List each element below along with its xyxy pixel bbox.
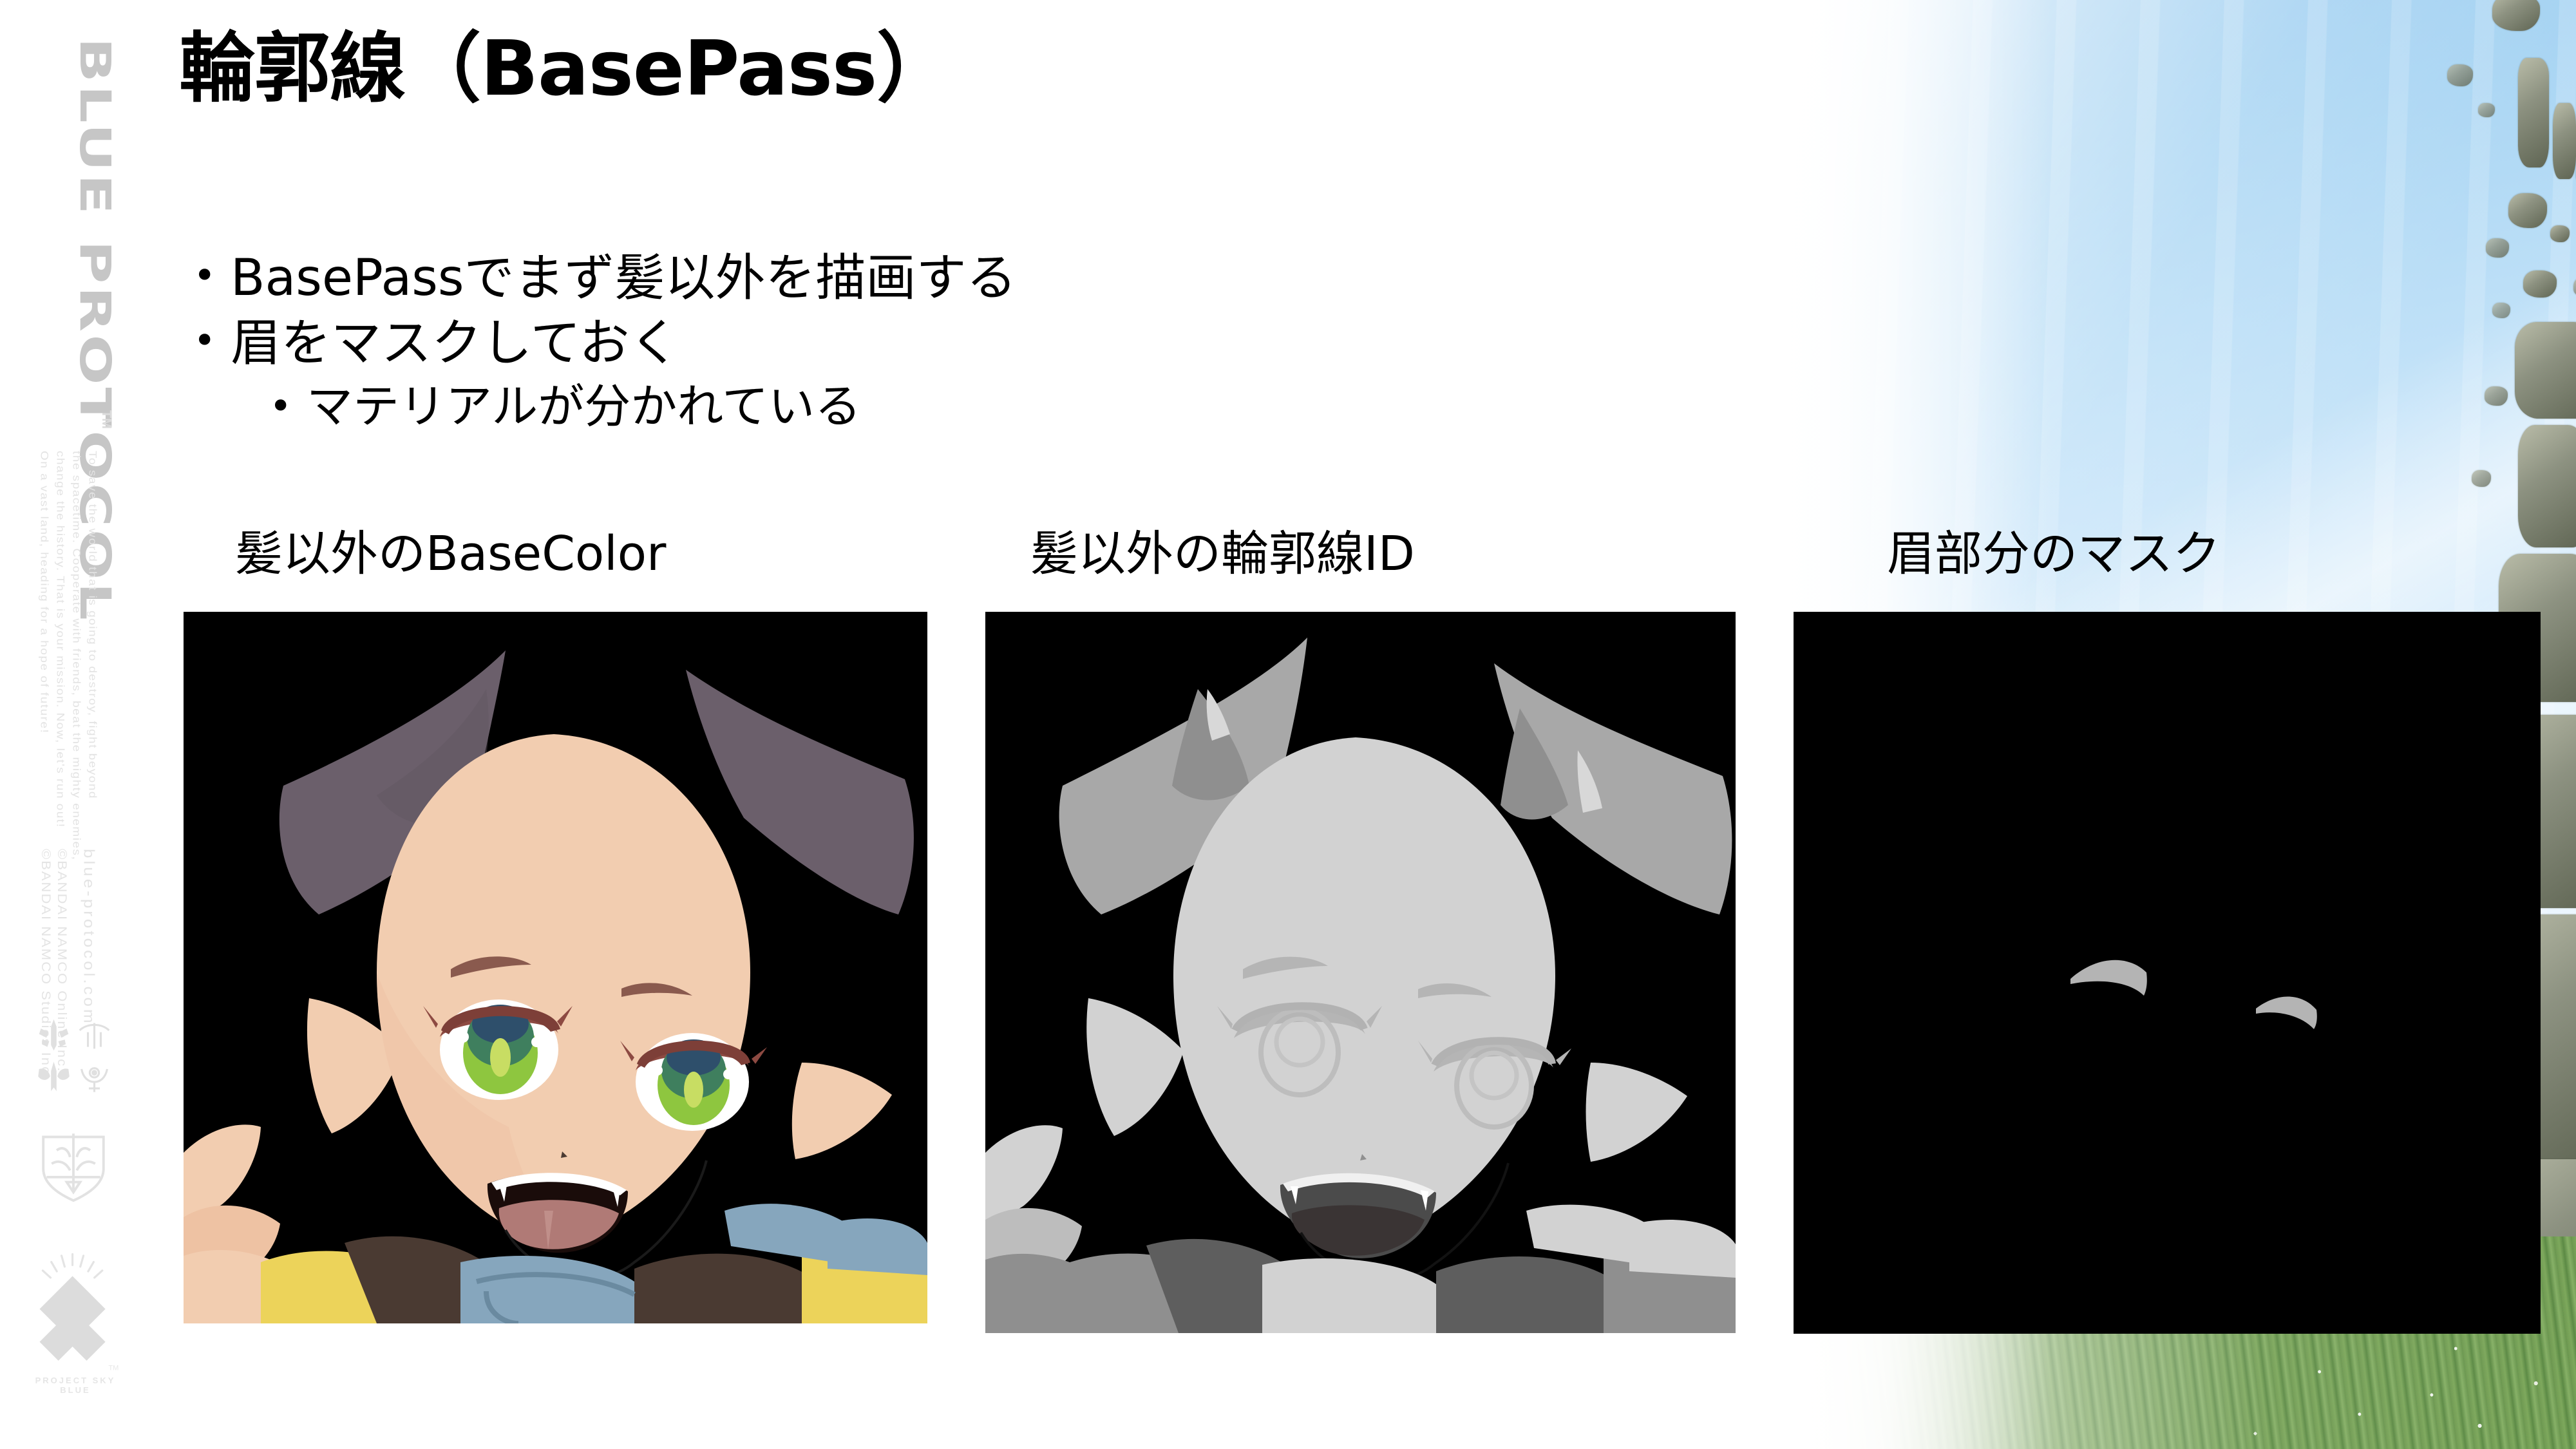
bureau-crest-icon (31, 1122, 116, 1206)
sword-emblem-icon (35, 1018, 72, 1054)
bullet-list: • BasePassでまず髪以外を描画する • 眉をマスクしておく • マテリア… (193, 246, 1017, 437)
svg-text:TM: TM (109, 1364, 119, 1372)
project-sky-blue-caption: PROJECT SKY BLUE (27, 1376, 124, 1395)
bullet-marker-icon: • (269, 377, 307, 437)
page-title: 輪郭線（BasePass） (179, 27, 952, 111)
eyebrow-mask-render (1794, 612, 2541, 1334)
project-sky-blue-logo-icon: TM (27, 1243, 121, 1378)
panel-caption-brow-mask: 眉部分のマスク (1887, 515, 2221, 584)
class-emblem-grid (35, 1018, 113, 1095)
bullet-marker-icon: • (193, 311, 231, 371)
bullet-item-2: • 眉をマスクしておく (193, 311, 1017, 376)
image-panel-outline-id (985, 612, 1736, 1333)
bullet-text-1: BasePassでまず髪以外を描画する (231, 246, 1017, 311)
trademark-mark: TM (99, 410, 113, 429)
tagline-line-2: the spacetime. Cooperate with friends, b… (70, 451, 82, 860)
bullet-text-2: 眉をマスクしておく (231, 311, 679, 376)
panel-caption-outline-id: 髪以外の輪郭線ID (1030, 515, 1415, 584)
bullet-text-3: マテリアルが分かれている (307, 377, 861, 437)
axe-emblem-icon (35, 1058, 72, 1095)
tagline-line-1: To save the world that is going to destr… (86, 451, 98, 799)
brand-rail: BLUE PROTOCOL TM To save the world that … (0, 0, 161, 1449)
character-outline-id-render (985, 612, 1736, 1333)
bow-emblem-icon (76, 1018, 113, 1054)
panel-caption-basecolor: 髪以外のBaseColor (235, 515, 666, 584)
character-basecolor-render (184, 612, 927, 1323)
staff-emblem-icon (76, 1058, 113, 1095)
image-panel-brow-mask (1794, 612, 2541, 1334)
tagline-line-4: On a vast land, heading for a hope of fu… (37, 451, 50, 734)
bullet-item-1: • BasePassでまず髪以外を描画する (193, 246, 1017, 311)
bullet-item-3: • マテリアルが分かれている (269, 377, 1017, 437)
bullet-marker-icon: • (193, 246, 231, 306)
image-panel-basecolor (184, 612, 927, 1323)
website-url[interactable]: blue-protocol.com (80, 849, 98, 1026)
tagline-line-3: change the history. That is your mission… (53, 451, 66, 828)
